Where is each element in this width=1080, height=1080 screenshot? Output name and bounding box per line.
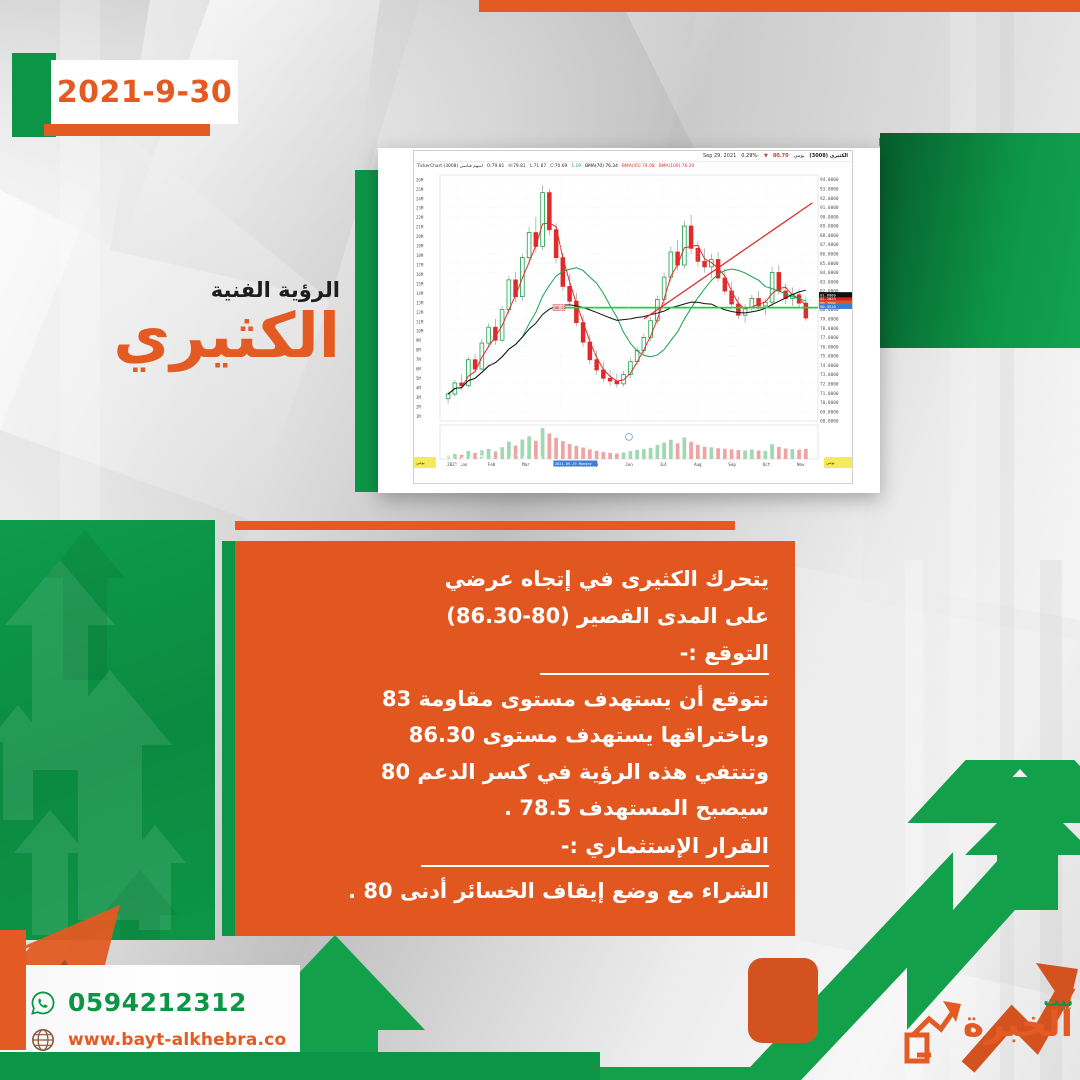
svg-text:3M: 3M <box>416 395 421 400</box>
svg-text:2021-09-29 Monday: 2021-09-29 Monday <box>555 462 593 466</box>
svg-text:5M: 5M <box>416 376 421 381</box>
footer-green-bar <box>0 1052 600 1080</box>
summary-line-1: يتحرك الكثيرى في إتجاه عرضي <box>261 563 769 596</box>
chart-ma3: BMA(100) 76.20 <box>659 164 695 169</box>
svg-text:90.0000: 90.0000 <box>820 214 839 220</box>
svg-text:يومي: يومي <box>416 460 425 465</box>
bottom-orange-square <box>748 958 818 1043</box>
svg-text:4M: 4M <box>416 385 421 390</box>
svg-text:93.0000: 93.0000 <box>820 187 839 193</box>
chart-series-label: TickerChart اسهم قياسي (3008) <box>417 164 483 169</box>
house-growth-arrow-icon <box>901 995 967 1065</box>
svg-text:23M: 23M <box>416 206 424 211</box>
chart-date: Sep 29, 2021 <box>703 153 736 159</box>
poster-canvas: 2021-9-30 الرؤية الفنية الكثيري الكثيري … <box>0 0 1080 1080</box>
svg-text:6M: 6M <box>416 367 421 372</box>
forecast-line-2: وباختراقها يستهدف مستوى 86.30 <box>261 719 769 752</box>
top-right-green-block <box>880 133 1080 348</box>
chart-svg: 94.000093.000092.000091.000090.000089.00… <box>414 171 853 484</box>
svg-text:21M: 21M <box>416 225 424 230</box>
svg-text:73.0000: 73.0000 <box>820 372 839 378</box>
svg-text:Oct: Oct <box>763 462 771 467</box>
svg-text:86.0000: 86.0000 <box>820 252 839 258</box>
chart-open: O:79.81 <box>487 164 504 169</box>
svg-text:1M: 1M <box>416 414 421 419</box>
chart-ma2: BMA(45) 74.08 <box>622 164 655 169</box>
svg-text:14M: 14M <box>416 291 424 296</box>
svg-text:80.21: 80.21 <box>555 305 567 310</box>
svg-text:81.6000: 81.6000 <box>820 293 836 297</box>
svg-text:26M: 26M <box>416 177 424 182</box>
chart-change-pct: -0.29% <box>741 153 759 159</box>
svg-text:20M: 20M <box>416 234 424 239</box>
svg-text:78.0000: 78.0000 <box>820 326 839 332</box>
svg-text:17M: 17M <box>416 262 424 267</box>
svg-text:72.0000: 72.0000 <box>820 381 839 387</box>
date-text: 2021-9-30 <box>57 75 233 110</box>
svg-text:81.2023: 81.2023 <box>820 297 836 301</box>
svg-text:Jul: Jul <box>660 462 668 467</box>
svg-text:25M: 25M <box>416 187 424 192</box>
svg-text:91.0000: 91.0000 <box>820 205 839 211</box>
svg-text:84.0000: 84.0000 <box>820 270 839 276</box>
panel-top-accent <box>235 521 735 530</box>
svg-text:79.0000: 79.0000 <box>820 316 839 322</box>
top-accent-bar <box>479 0 1080 12</box>
contact-phone-row[interactable]: 0594212312 <box>30 988 247 1017</box>
svg-text:13M: 13M <box>416 300 424 305</box>
chart-ma1: BMA(70) 76.34 <box>585 164 618 169</box>
svg-text:15M: 15M <box>416 281 424 286</box>
svg-text:85.0000: 85.0000 <box>820 261 839 267</box>
svg-text:11M: 11M <box>416 319 424 324</box>
svg-text:75.0000: 75.0000 <box>820 354 839 360</box>
contact-phone: 0594212312 <box>68 988 247 1017</box>
forecast-line-1: نتوقع أن يستهدف مستوى مقاومة 83 <box>261 683 769 716</box>
svg-text:69.0000: 69.0000 <box>820 409 839 415</box>
chart-low: L:71.87 <box>530 164 547 169</box>
chart-header-bar: الكثيري (3008) يومي 80.70 ▼ -0.29% Sep 2… <box>414 151 852 162</box>
forecast-heading: التوقع :- <box>540 638 769 675</box>
svg-text:80.3510: 80.3510 <box>820 305 836 309</box>
svg-text:Mar: Mar <box>522 462 530 467</box>
svg-text:19M: 19M <box>416 244 424 249</box>
chart-plot-area[interactable]: 94.000093.000092.000091.000090.000089.00… <box>414 171 852 483</box>
svg-text:77.0000: 77.0000 <box>820 335 839 341</box>
chart-timeframe: يومي <box>794 153 805 159</box>
svg-text:83.0000: 83.0000 <box>820 279 839 285</box>
svg-text:يومي: يومي <box>826 460 835 465</box>
svg-text:Feb: Feb <box>488 462 496 467</box>
brand-title: الكثيري <box>40 303 340 368</box>
svg-text:94.0000: 94.0000 <box>820 177 839 183</box>
svg-text:76.0000: 76.0000 <box>820 344 839 350</box>
svg-text:Sep: Sep <box>728 462 736 467</box>
panel-left-green-edge <box>222 541 236 936</box>
brand-subtitle: الرؤية الفنية <box>40 280 340 301</box>
globe-icon <box>30 1027 56 1053</box>
chart-ohlc-bar: TickerChart اسهم قياسي (3008) O:79.81 H:… <box>414 162 852 171</box>
chart-high: H:79.81 <box>508 164 525 169</box>
svg-text:9M: 9M <box>416 338 421 343</box>
svg-text:92.0000: 92.0000 <box>820 196 839 202</box>
svg-text:12M: 12M <box>416 310 424 315</box>
svg-text:71.0000: 71.0000 <box>820 391 839 397</box>
chart-last-price: 80.70 <box>773 153 789 159</box>
svg-text:Jun: Jun <box>625 462 633 467</box>
logo-arabic-text: بيت الخبرة <box>963 993 1073 1043</box>
svg-text:70.0000: 70.0000 <box>820 400 839 406</box>
chart-close: C:70.69 <box>550 164 567 169</box>
brand-title-block: الرؤية الفنية الكثيري <box>40 280 340 368</box>
left-green-arrow-panel <box>0 520 215 940</box>
contact-website-row[interactable]: www.bayt-alkhebra.co <box>30 1027 286 1053</box>
chart-volume: 1.19 <box>571 164 581 169</box>
svg-text:8M: 8M <box>416 348 421 353</box>
svg-text:16M: 16M <box>416 272 424 277</box>
footer-orange-bar <box>0 930 26 1050</box>
svg-text:88.0000: 88.0000 <box>820 233 839 239</box>
logo-word-khebra: الخبرة <box>963 1007 1073 1043</box>
svg-text:24M: 24M <box>416 196 424 201</box>
svg-text:10M: 10M <box>416 329 424 334</box>
svg-text:7M: 7M <box>416 357 421 362</box>
date-badge-underline <box>44 124 210 136</box>
trading-chart[interactable]: الكثيري (3008) يومي 80.70 ▼ -0.29% Sep 2… <box>413 150 853 484</box>
company-logo[interactable]: بيت الخبرة <box>905 985 1073 1065</box>
svg-text:Nov: Nov <box>797 462 805 467</box>
svg-text:89.0000: 89.0000 <box>820 224 839 230</box>
date-badge: 2021-9-30 <box>51 60 238 124</box>
svg-text:87.0000: 87.0000 <box>820 242 839 248</box>
svg-text:Aug: Aug <box>694 462 702 467</box>
svg-text:74.0000: 74.0000 <box>820 363 839 369</box>
whatsapp-icon <box>30 990 56 1016</box>
chart-symbol: الكثيري (3008) <box>809 153 848 159</box>
summary-line-2: على المدى القصير (80-86.30) <box>261 600 769 633</box>
svg-text:22M: 22M <box>416 215 424 220</box>
svg-text:2021 Jan: 2021 Jan <box>447 462 468 467</box>
contact-website: www.bayt-alkhebra.co <box>68 1030 286 1050</box>
svg-text:2M: 2M <box>416 404 421 409</box>
svg-text:68.0000: 68.0000 <box>820 419 839 425</box>
chart-down-arrow-icon: ▼ <box>764 153 768 159</box>
svg-text:18M: 18M <box>416 253 424 258</box>
